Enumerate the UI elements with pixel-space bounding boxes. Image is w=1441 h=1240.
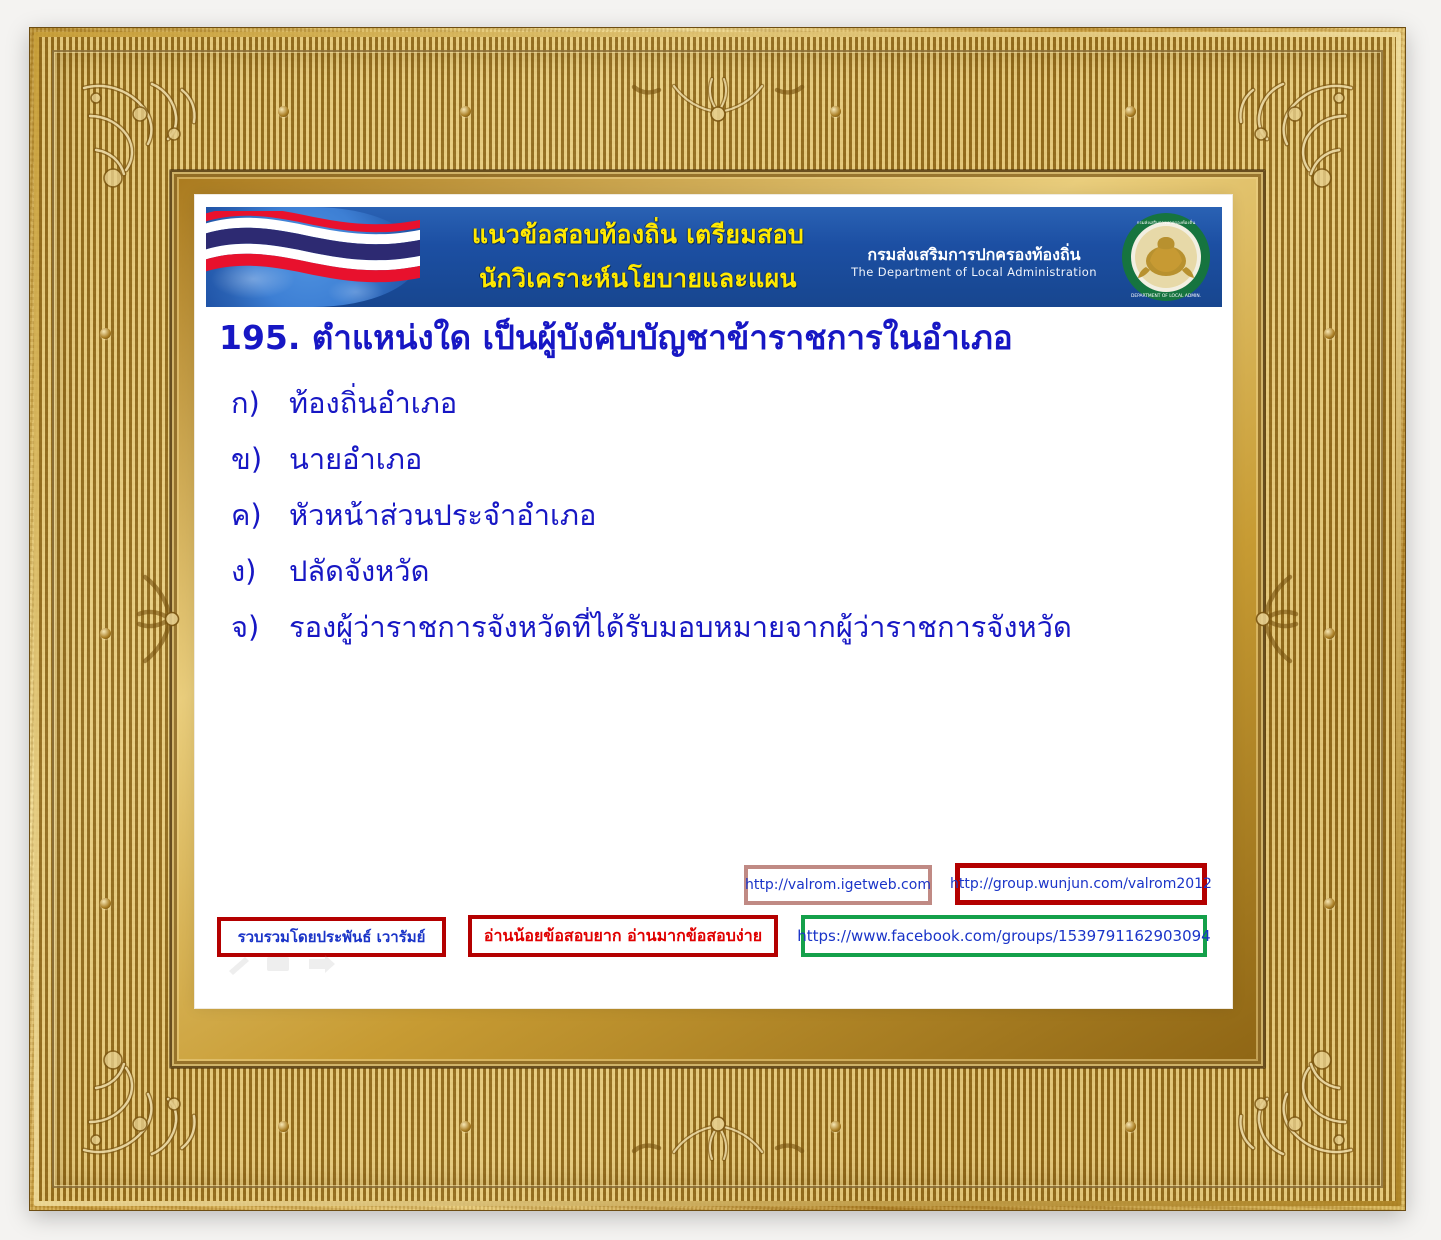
frame-center-sprig-ornament-icon (613, 1098, 823, 1184)
facebook-group-link-box[interactable]: https://www.facebook.com/groups/15397911… (801, 915, 1207, 957)
department-name-thai: กรมส่งเสริมการปกครองท้องถิ่น (844, 245, 1104, 265)
choice-label: นายอำเภอ (289, 431, 422, 487)
department-name-group: กรมส่งเสริมการปกครองท้องถิ่น The Departm… (844, 245, 1104, 280)
frame-stud (1324, 898, 1335, 909)
frame-stud (1324, 328, 1335, 339)
frame-center-sprig-ornament-icon (613, 54, 823, 140)
choice-option-kho2[interactable]: ค) หัวหน้าส่วนประจำอำเภอ (231, 487, 1211, 543)
choice-key: ข) (231, 431, 289, 487)
frame-stud (830, 106, 841, 117)
choice-label: ท้องถิ่นอำเภอ (289, 375, 457, 431)
frame-stud (830, 1121, 841, 1132)
choice-label: รองผู้ว่าราชการจังหวัดที่ได้รับมอบหมายจา… (289, 599, 1072, 655)
choice-option-ka[interactable]: ก) ท้องถิ่นอำเภอ (231, 375, 1211, 431)
frame-stud (100, 628, 111, 639)
choice-key: ค) (231, 487, 289, 543)
department-name-english: The Department of Local Administration (844, 265, 1104, 280)
wunjun-group-link-box[interactable]: http://group.wunjun.com/valrom2012 (955, 863, 1207, 905)
choice-option-kho[interactable]: ข) นายอำเภอ (231, 431, 1211, 487)
choice-label: ปลัดจังหวัด (289, 543, 429, 599)
choice-label: หัวหน้าส่วนประจำอำเภอ (289, 487, 596, 543)
choice-key: จ) (231, 599, 289, 655)
banner-title-group: แนวข้อสอบท้องถิ่น เตรียมสอบ นักวิเคราะห์… (428, 213, 848, 301)
choice-list: ก) ท้องถิ่นอำเภอ ข) นายอำเภอ ค) หัวหน้าส… (231, 375, 1211, 655)
choice-option-ngo[interactable]: ง) ปลัดจังหวัด (231, 543, 1211, 599)
svg-text:กรมส่งเสริมการปกครองท้องถิ่น: กรมส่งเสริมการปกครองท้องถิ่น (1137, 219, 1196, 226)
author-credit-box: รวบรวมโดยประพันธ์ เวารัมย์ (217, 917, 446, 957)
choice-option-cho[interactable]: จ) รองผู้ว่าราชการจังหวัดที่ได้รับมอบหมา… (231, 599, 1211, 655)
frame-stud (1125, 106, 1136, 117)
frame-stud (460, 106, 471, 117)
igetweb-link-box[interactable]: http://valrom.igetweb.com (744, 865, 932, 905)
choice-key: ง) (231, 543, 289, 599)
slide-canvas: แนวข้อสอบท้องถิ่น เตรียมสอบ นักวิเคราะห์… (195, 195, 1232, 1008)
frame-stud (1125, 1121, 1136, 1132)
frame-stud (100, 328, 111, 339)
banner-title-line-2: นักวิเคราะห์นโยบายและแผน (428, 257, 848, 301)
question-text: 195. ตำแหน่งใด เป็นผู้บังคับบัญชาข้าราชก… (219, 317, 1209, 359)
frame-stud (278, 1121, 289, 1132)
picture-frame: แนวข้อสอบท้องถิ่น เตรียมสอบ นักวิเคราะห์… (30, 28, 1405, 1210)
thai-flag-icon (206, 211, 420, 289)
frame-stud (100, 898, 111, 909)
choice-key: ก) (231, 375, 289, 431)
exam-banner: แนวข้อสอบท้องถิ่น เตรียมสอบ นักวิเคราะห์… (206, 207, 1222, 307)
frame-stud (460, 1121, 471, 1132)
banner-title-line-1: แนวข้อสอบท้องถิ่น เตรียมสอบ (428, 213, 848, 257)
frame-stud (278, 106, 289, 117)
svg-text:DEPARTMENT OF LOCAL ADMIN.: DEPARTMENT OF LOCAL ADMIN. (1131, 293, 1201, 299)
frame-stud (1324, 628, 1335, 639)
department-seal-icon: กรมส่งเสริมการปกครองท้องถิ่น DEPARTMENT … (1120, 211, 1212, 303)
study-motto-box: อ่านน้อยข้อสอบยาก อ่านมากข้อสอบง่าย (468, 915, 778, 957)
